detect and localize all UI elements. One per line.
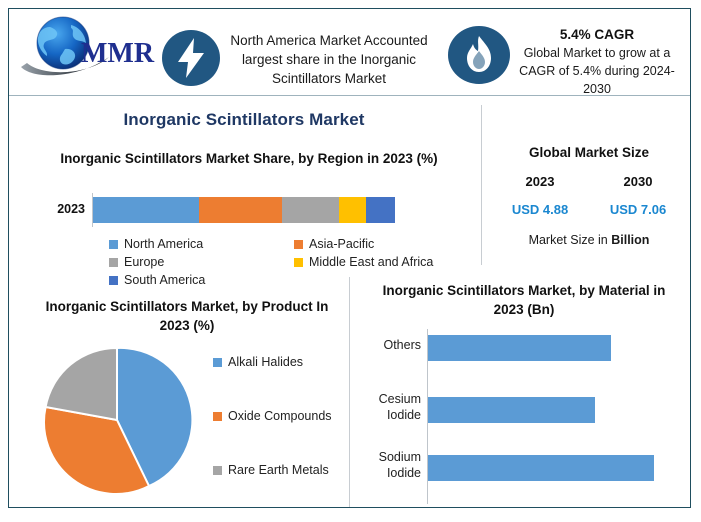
region-segment-middle-east-africa bbox=[339, 197, 366, 223]
lightning-bolt-icon bbox=[161, 29, 221, 87]
legend-label-asia-pacific: Asia-Pacific bbox=[309, 237, 374, 251]
legend-swatch-oxide-compounds bbox=[213, 412, 222, 421]
legend-label-middle-east-africa: Middle East and Africa bbox=[309, 255, 433, 269]
cagr-title: 5.4% CAGR bbox=[509, 25, 685, 44]
cagr-description: Global Market to grow at a CAGR of 5.4% … bbox=[509, 44, 685, 98]
material-label-cesium-iodide: Cesium Iodide bbox=[359, 391, 421, 423]
legend-item-alkali-halides: Alkali Halides bbox=[213, 355, 363, 409]
material-row-cesium-iodide: Cesium Iodide bbox=[359, 391, 689, 437]
page-title: Inorganic Scintillators Market bbox=[9, 110, 479, 130]
flame-icon bbox=[447, 25, 511, 85]
legend-item-europe: Europe bbox=[109, 253, 294, 271]
pie-chart-title: Inorganic Scintillators Market, by Produ… bbox=[37, 297, 337, 335]
legend-label-europe: Europe bbox=[124, 255, 164, 269]
global-market-size-values: USD 4.88 USD 7.06 bbox=[491, 202, 687, 217]
legend-swatch-south-america bbox=[109, 276, 118, 285]
header-divider bbox=[9, 95, 690, 96]
mmr-globe-logo: MMR bbox=[17, 13, 157, 81]
legend-swatch-europe bbox=[109, 258, 118, 267]
global-market-size-title: Global Market Size bbox=[491, 145, 687, 160]
region-stacked-bar bbox=[93, 197, 395, 223]
region-category-label: 2023 bbox=[37, 202, 85, 216]
region-share-chart: Inorganic Scintillators Market Share, by… bbox=[19, 149, 479, 294]
market-size-value-2023: USD 4.88 bbox=[491, 202, 589, 217]
market-size-unit-value: Billion bbox=[611, 233, 649, 247]
material-bar-sodium-iodide bbox=[428, 455, 654, 481]
material-label-others: Others bbox=[359, 337, 421, 353]
pie-slice-rare-earth-metals bbox=[46, 348, 117, 420]
region-chart-title: Inorganic Scintillators Market Share, by… bbox=[39, 149, 459, 168]
global-market-size-panel: Global Market Size 2023 2030 USD 4.88 US… bbox=[491, 145, 687, 247]
legend-swatch-asia-pacific bbox=[294, 240, 303, 249]
legend-label-north-america: North America bbox=[124, 237, 203, 251]
material-chart-plot: Others Cesium Iodide Sodium Iodide bbox=[359, 329, 689, 504]
header: MMR North America Market Accounted large… bbox=[9, 9, 690, 95]
legend-item-rare-earth-metals: Rare Earth Metals bbox=[213, 463, 363, 517]
legend-label-south-america: South America bbox=[124, 273, 205, 287]
legend-item-south-america: South America bbox=[109, 271, 294, 289]
legend-label-oxide-compounds: Oxide Compounds bbox=[228, 409, 332, 423]
panel-divider-bottom bbox=[349, 277, 350, 507]
pie-legend: Alkali Halides Oxide Compounds Rare Eart… bbox=[213, 355, 363, 517]
market-size-unit-note: Market Size in Billion bbox=[491, 233, 687, 247]
legend-item-asia-pacific: Asia-Pacific bbox=[294, 235, 479, 253]
material-bar-others bbox=[428, 335, 611, 361]
legend-item-north-america: North America bbox=[109, 235, 294, 253]
svg-text:MMR: MMR bbox=[81, 38, 155, 69]
legend-item-oxide-compounds: Oxide Compounds bbox=[213, 409, 363, 463]
region-segment-south-america bbox=[366, 197, 395, 223]
legend-swatch-middle-east-africa bbox=[294, 258, 303, 267]
market-size-year-2023: 2023 bbox=[491, 174, 589, 189]
market-size-value-2030: USD 7.06 bbox=[589, 202, 687, 217]
region-segment-asia-pacific bbox=[199, 197, 282, 223]
legend-swatch-north-america bbox=[109, 240, 118, 249]
legend-label-rare-earth-metals: Rare Earth Metals bbox=[228, 463, 329, 477]
panel-divider-top bbox=[481, 105, 482, 265]
legend-swatch-alkali-halides bbox=[213, 358, 222, 367]
cagr-block: 5.4% CAGR Global Market to grow at a CAG… bbox=[509, 25, 685, 98]
region-segment-north-america bbox=[93, 197, 199, 223]
material-chart-title: Inorganic Scintillators Market, by Mater… bbox=[379, 281, 669, 319]
product-share-chart: Inorganic Scintillators Market, by Produ… bbox=[17, 297, 357, 507]
material-row-others: Others bbox=[359, 337, 689, 383]
legend-label-alkali-halides: Alkali Halides bbox=[228, 355, 303, 369]
north-america-callout-text: North America Market Accounted largest s… bbox=[223, 31, 435, 88]
material-bar-cesium-iodide bbox=[428, 397, 595, 423]
legend-swatch-rare-earth-metals bbox=[213, 466, 222, 475]
region-chart-plot: 2023 bbox=[19, 193, 479, 233]
material-bar-chart: Inorganic Scintillators Market, by Mater… bbox=[359, 281, 689, 507]
infographic-frame: MMR North America Market Accounted large… bbox=[8, 8, 691, 508]
pie-chart-plot bbox=[39, 345, 195, 500]
material-label-sodium-iodide: Sodium Iodide bbox=[359, 449, 421, 481]
region-segment-europe bbox=[282, 197, 339, 223]
market-size-unit-prefix: Market Size in bbox=[529, 233, 612, 247]
market-size-year-2030: 2030 bbox=[589, 174, 687, 189]
global-market-size-years: 2023 2030 bbox=[491, 174, 687, 189]
material-row-sodium-iodide: Sodium Iodide bbox=[359, 449, 689, 495]
legend-item-middle-east-africa: Middle East and Africa bbox=[294, 253, 479, 271]
